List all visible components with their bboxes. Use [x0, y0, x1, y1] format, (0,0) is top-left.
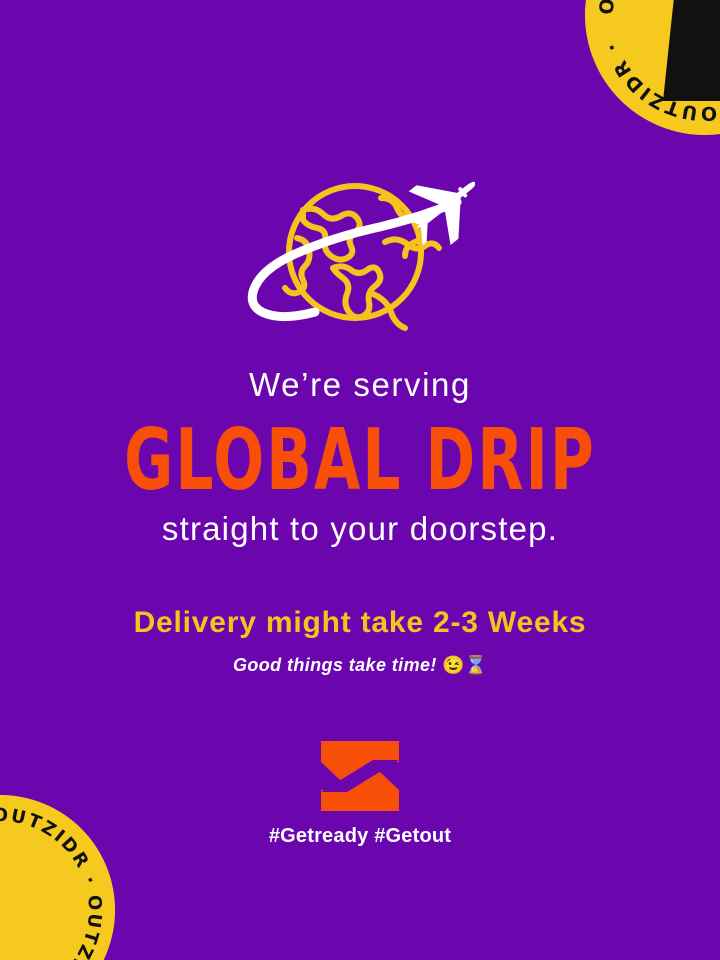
footer-block: #Getready #Getout	[0, 741, 720, 848]
globe-with-airplane-icon	[245, 176, 475, 341]
poster-canvas: OUTZIDR · OUTZIDR · OUTZIDR · OUTZIDR ·	[0, 0, 720, 960]
hero-illustration	[0, 176, 720, 341]
hashtags: #Getready #Getout	[269, 825, 451, 848]
outzidr-z-logo	[321, 741, 399, 811]
headline: GLOBAL DRIP	[0, 419, 720, 503]
delivery-estimate: Delivery might take 2-3 Weeks	[0, 605, 720, 641]
good-things-text: Good things take time!	[233, 655, 437, 675]
serving-line: We’re serving	[0, 366, 720, 405]
badge-top-right-graphic: OUTZIDR · OUTZIDR · OUTZIDR · OUTZIDR ·	[585, 0, 720, 135]
badge-top-right: OUTZIDR · OUTZIDR · OUTZIDR · OUTZIDR ·	[585, 0, 720, 135]
wink-hourglass-emoji: 😉⌛	[442, 655, 487, 675]
good-things-line: Good things take time! 😉⌛	[0, 655, 720, 677]
copy-block: We’re serving GLOBAL DRIP straight to yo…	[0, 366, 720, 676]
doorstep-line: straight to your doorstep.	[0, 509, 720, 549]
